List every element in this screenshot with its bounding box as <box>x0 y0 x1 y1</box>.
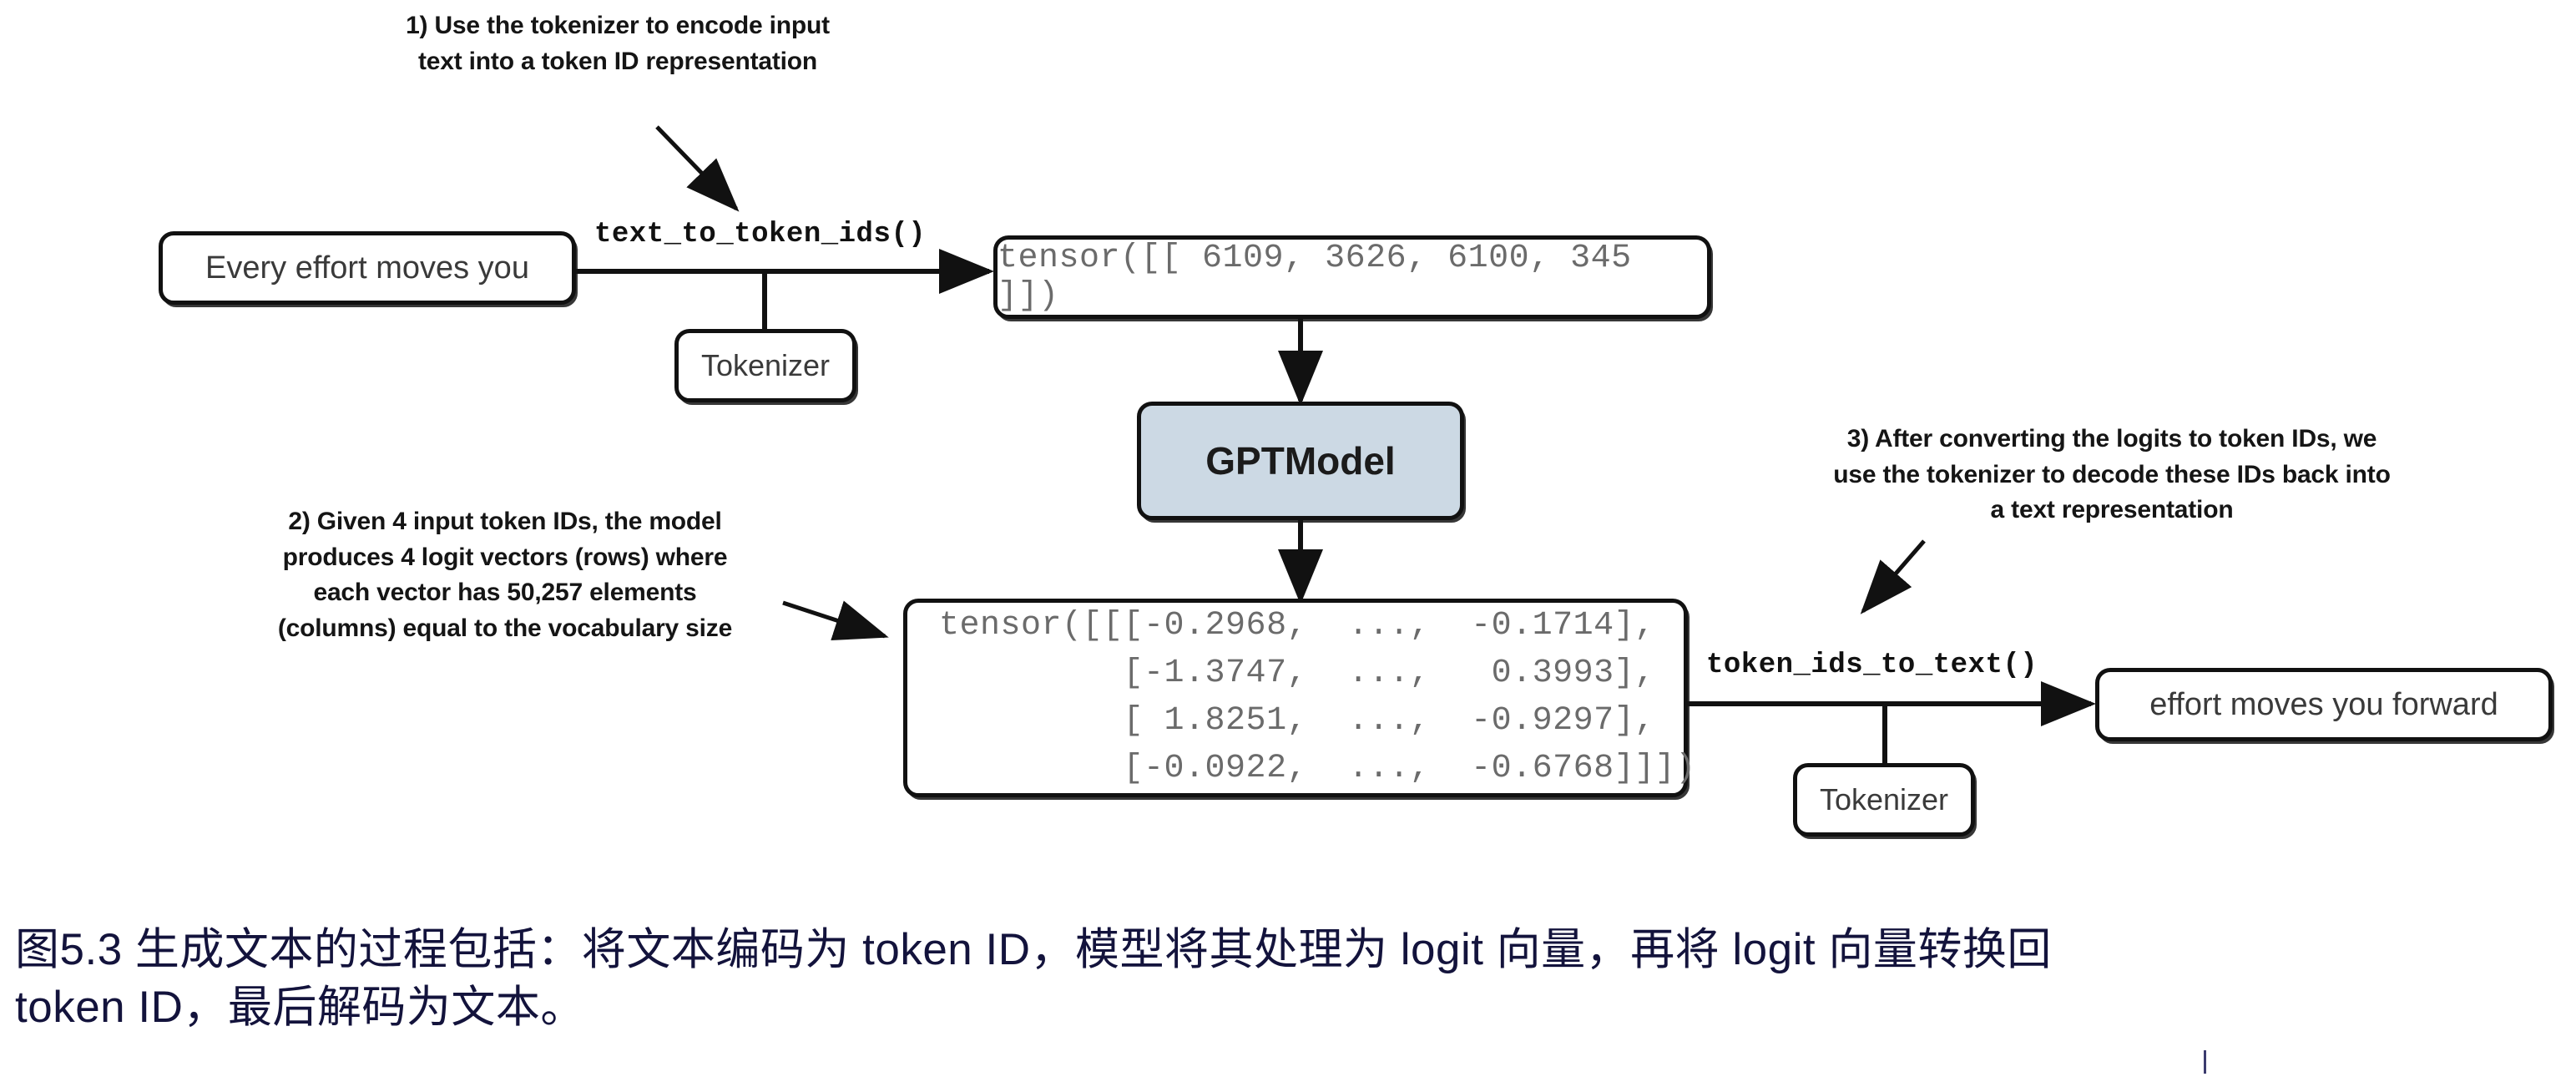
node-gpt-model-label: GPTModel <box>1205 438 1395 483</box>
annotation-step-3-line-2: use the tokenizer to decode these IDs ba… <box>1749 458 2475 493</box>
text-cursor <box>2204 1050 2206 1074</box>
node-input-text-label: Every effort moves you <box>205 250 529 286</box>
node-output-text[interactable]: effort moves you forward <box>2095 668 2553 741</box>
node-logits-tensor-value: tensor([[[-0.2968, ..., -0.1714], [-1.37… <box>939 603 1696 792</box>
edge-label-text-to-token-ids: text_to_token_ids() <box>594 219 926 250</box>
figure-caption-line-2: token ID，最后解码为文本。 <box>15 979 2561 1037</box>
edge-label-token-ids-to-text: token_ids_to_text() <box>1706 650 2038 681</box>
annotation-step-3: 3) After converting the logits to token … <box>1749 422 2475 528</box>
annotation-3-arrow <box>1863 541 1924 611</box>
annotation-step-2-line-3: each vector has 50,257 elements <box>179 575 831 611</box>
annotation-step-3-line-3: a text representation <box>1749 493 2475 528</box>
node-gpt-model[interactable]: GPTModel <box>1137 402 1464 520</box>
node-tokenizer-left[interactable]: Tokenizer <box>674 329 856 402</box>
node-tokenizer-right[interactable]: Tokenizer <box>1793 763 1975 837</box>
node-token-ids-tensor-value: tensor([[ 6109, 3626, 6100, 345 ]]) <box>998 240 1707 315</box>
node-input-text[interactable]: Every effort moves you <box>159 231 576 305</box>
annotation-step-1-line-1: 1) Use the tokenizer to encode input <box>334 8 902 44</box>
annotation-step-3-line-1: 3) After converting the logits to token … <box>1749 422 2475 458</box>
annotation-step-1: 1) Use the tokenizer to encode input tex… <box>334 8 902 79</box>
annotation-1-arrow <box>657 127 736 209</box>
annotation-step-2-line-1: 2) Given 4 input token IDs, the model <box>179 504 831 540</box>
annotation-step-1-line-2: text into a token ID representation <box>334 44 902 80</box>
node-logits-tensor[interactable]: tensor([[[-0.2968, ..., -0.1714], [-1.37… <box>903 599 1688 797</box>
node-tokenizer-right-label: Tokenizer <box>1820 782 1948 817</box>
annotation-step-2-line-4: (columns) equal to the vocabulary size <box>179 611 831 647</box>
node-token-ids-tensor[interactable]: tensor([[ 6109, 3626, 6100, 345 ]]) <box>993 235 1711 319</box>
annotation-step-2-line-2: produces 4 logit vectors (rows) where <box>179 540 831 576</box>
node-tokenizer-left-label: Tokenizer <box>701 348 830 383</box>
annotation-step-2: 2) Given 4 input token IDs, the model pr… <box>179 504 831 646</box>
figure-caption-line-1: 图5.3 生成文本的过程包括：将文本编码为 token ID，模型将其处理为 l… <box>15 922 2561 979</box>
node-output-text-label: effort moves you forward <box>2149 687 2498 723</box>
figure-caption: 图5.3 生成文本的过程包括：将文本编码为 token ID，模型将其处理为 l… <box>15 922 2561 1037</box>
